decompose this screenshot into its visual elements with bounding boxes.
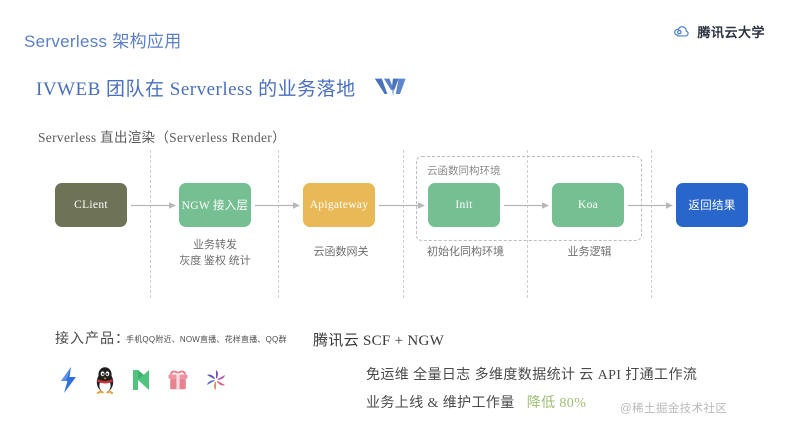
brand-text: 腾讯云大学 — [697, 22, 765, 41]
arrow-apigateway-to-init — [379, 201, 426, 210]
architecture-diagram: 云函数同构环境 CLient NGW 接入层 Apigateway Init K… — [0, 150, 787, 295]
caption-ngw-line2: 灰度 鉴权 统计 — [151, 254, 279, 270]
node-ngw[interactable]: NGW 接入层 — [179, 183, 251, 227]
arrow-koa-to-result — [628, 201, 674, 210]
caption-ngw-line1: 业务转发 — [151, 238, 279, 254]
node-ngw-label: NGW 接入层 — [182, 197, 249, 213]
node-init[interactable]: Init — [428, 183, 500, 227]
products-label: 接入产品： — [55, 328, 130, 348]
caption-ngw: 业务转发 灰度 鉴权 统计 — [151, 238, 279, 270]
node-init-label: Init — [455, 199, 472, 211]
node-koa-label: Koa — [578, 199, 598, 211]
lightning-icon — [58, 366, 80, 394]
node-apigateway-label: Apigateway — [310, 199, 369, 211]
section-heading: IVWEB 团队在 Serverless 的业务落地 — [36, 72, 414, 102]
node-koa[interactable]: Koa — [552, 183, 624, 227]
cloud-icon — [672, 22, 691, 41]
brand-logo: 腾讯云大学 — [672, 22, 765, 41]
sub-heading: Serverless 直出渲染（Serverless Render） — [38, 126, 286, 146]
caption-koa-line1: 业务逻辑 — [528, 245, 651, 261]
flower-icon — [204, 368, 228, 392]
column-divider — [403, 150, 404, 298]
caption-apigateway: 云函数网关 — [279, 245, 403, 261]
column-divider — [150, 150, 151, 298]
node-apigateway[interactable]: Apigateway — [303, 183, 375, 227]
caption-init-line1: 初始化同构环境 — [404, 245, 527, 261]
node-client-label: CLient — [74, 199, 108, 211]
node-result-label: 返回结果 — [688, 197, 735, 213]
node-result[interactable]: 返回结果 — [676, 183, 748, 227]
now-live-icon — [130, 367, 152, 393]
watermark: @稀土掘金技术社区 — [620, 400, 727, 416]
qq-penguin-icon — [94, 366, 116, 394]
benefit-highlight: 降低 80% — [527, 392, 587, 412]
section-heading-text: IVWEB 团队在 Serverless 的业务落地 — [36, 74, 356, 101]
arrow-init-to-koa — [504, 201, 550, 210]
benefit-line-2-prefix: 业务上线 & 维护工作量 — [366, 392, 515, 412]
benefit-line-2: 业务上线 & 维护工作量 降低 80% — [366, 392, 586, 412]
tech-stack-text: 腾讯云 SCF + NGW — [313, 329, 444, 350]
benefit-line-1: 免运维 全量日志 多维度数据统计 云 API 打通工作流 — [366, 364, 697, 384]
cloud-function-group-label: 云函数同构环境 — [427, 163, 501, 178]
page-title: Serverless 架构应用 — [24, 27, 182, 52]
caption-apigateway-line1: 云函数网关 — [279, 245, 403, 261]
arrow-ngw-to-apigateway — [255, 201, 301, 210]
gift-box-icon — [166, 368, 190, 392]
node-client[interactable]: CLient — [55, 183, 127, 227]
caption-koa: 业务逻辑 — [528, 245, 651, 261]
column-divider — [651, 150, 652, 298]
products-list: 手机QQ附近、NOW直播、花样直播、QQ群 — [126, 334, 287, 345]
product-icons — [58, 366, 228, 394]
column-divider — [278, 150, 279, 298]
caption-init: 初始化同构环境 — [404, 245, 527, 261]
arrow-client-to-ngw — [131, 201, 177, 210]
ivweb-w-logo — [372, 72, 414, 102]
slide-root: Serverless 架构应用 腾讯云大学 IVWEB 团队在 Serverle… — [0, 0, 787, 434]
